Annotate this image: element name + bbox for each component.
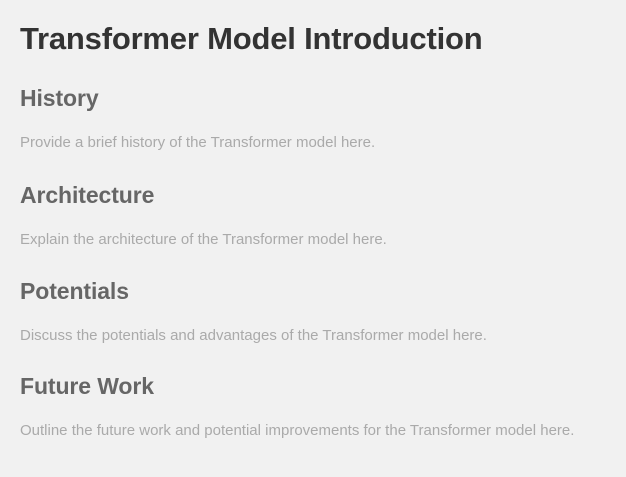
- section-heading-potentials: Potentials: [20, 278, 610, 305]
- document-root: Transformer Model Introduction History P…: [0, 0, 626, 477]
- section-heading-history: History: [20, 85, 610, 112]
- section-body-history: Provide a brief history of the Transform…: [20, 133, 610, 153]
- section-heading-architecture: Architecture: [20, 182, 610, 209]
- section-body-future-work: Outline the future work and potential im…: [20, 421, 610, 441]
- page-title: Transformer Model Introduction: [20, 21, 482, 57]
- section-body-architecture: Explain the architecture of the Transfor…: [20, 230, 610, 250]
- section-heading-future-work: Future Work: [20, 373, 610, 400]
- section-body-potentials: Discuss the potentials and advantages of…: [20, 326, 610, 346]
- section-history: History Provide a brief history of the T…: [20, 85, 610, 153]
- section-potentials: Potentials Discuss the potentials and ad…: [20, 278, 610, 346]
- section-future-work: Future Work Outline the future work and …: [20, 373, 610, 441]
- section-architecture: Architecture Explain the architecture of…: [20, 182, 610, 250]
